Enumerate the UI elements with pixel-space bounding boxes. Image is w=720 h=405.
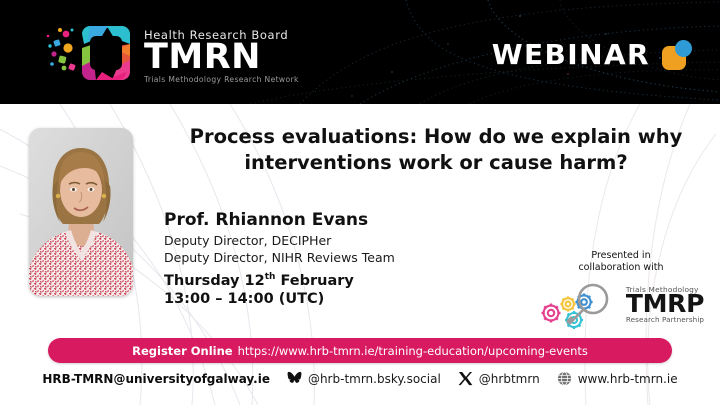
event-date-ordinal: th — [265, 272, 276, 282]
collaboration-block: Presented in collaboration with — [528, 250, 714, 330]
register-online-bar[interactable]: Register Online https://www.hrb-tmrn.ie/… — [48, 338, 672, 363]
speaker-photo — [29, 128, 133, 296]
tmrp-logo: Trials Methodology TMRP Research Partner… — [528, 280, 714, 330]
tmrn-acronym: TMRN — [144, 40, 299, 74]
register-url[interactable]: https://www.hrb-tmrn.ie/training-educati… — [238, 344, 588, 358]
contact-email[interactable]: HRB-TMRN@universityofgalway.ie — [42, 372, 270, 386]
event-date-text: Thursday 12 — [164, 273, 265, 289]
tmrn-logo: Health Research Board TMRN Trials Method… — [44, 22, 344, 88]
speaker-role-line-1: Deputy Director, DECIPHer — [164, 233, 494, 250]
tmrp-bottom-line: Research Partnership — [626, 315, 704, 324]
speaker-portrait-image — [29, 128, 133, 296]
x-twitter-icon — [458, 371, 473, 386]
tmrp-acronym: TMRP — [626, 292, 704, 316]
bluesky-contact[interactable]: @hrb-tmrn.bsky.social — [287, 371, 441, 386]
event-date-month: February — [275, 273, 353, 289]
globe-icon — [557, 371, 572, 386]
header-bar: Health Research Board TMRN Trials Method… — [0, 0, 720, 104]
speaker-name: Prof. Rhiannon Evans — [164, 210, 494, 230]
webinar-icon-circle — [675, 40, 692, 57]
collaboration-intro-line-2: collaboration with — [528, 262, 714, 274]
webinar-title: Process evaluations: How do we explain w… — [186, 124, 686, 177]
event-date: Thursday 12th February — [164, 272, 494, 289]
x-contact[interactable]: @hrbtmrn — [458, 371, 540, 386]
x-handle: @hrbtmrn — [479, 372, 540, 386]
event-time: 13:00 – 14:00 (UTC) — [164, 291, 494, 307]
speaker-role-line-2: Deputy Director, NIHR Reviews Team — [164, 250, 494, 267]
webinar-badge: WEBINAR — [492, 38, 692, 71]
website-url: www.hrb-tmrn.ie — [578, 372, 678, 386]
tmrn-logo-text: Health Research Board TMRN Trials Method… — [144, 26, 299, 84]
webinar-badge-icon — [662, 40, 692, 70]
tmrn-tagline: Trials Methodology Research Network — [144, 75, 299, 84]
tmrn-diamond-mark-icon — [44, 24, 136, 86]
webinar-label: WEBINAR — [492, 38, 650, 71]
webinar-poster: Health Research Board TMRN Trials Method… — [0, 0, 720, 405]
footer-contacts: HRB-TMRN@universityofgalway.ie @hrb-tmrn… — [0, 371, 720, 386]
collaboration-intro-line-1: Presented in — [528, 250, 714, 262]
website-contact[interactable]: www.hrb-tmrn.ie — [557, 371, 678, 386]
bluesky-butterfly-icon — [287, 371, 302, 386]
register-label: Register Online — [132, 344, 232, 358]
tmrp-gears-magnifier-icon — [538, 280, 624, 330]
tmrp-logo-text: Trials Methodology TMRP Research Partner… — [626, 285, 704, 324]
bluesky-handle: @hrb-tmrn.bsky.social — [308, 372, 441, 386]
speaker-details: Prof. Rhiannon Evans Deputy Director, DE… — [164, 210, 494, 307]
